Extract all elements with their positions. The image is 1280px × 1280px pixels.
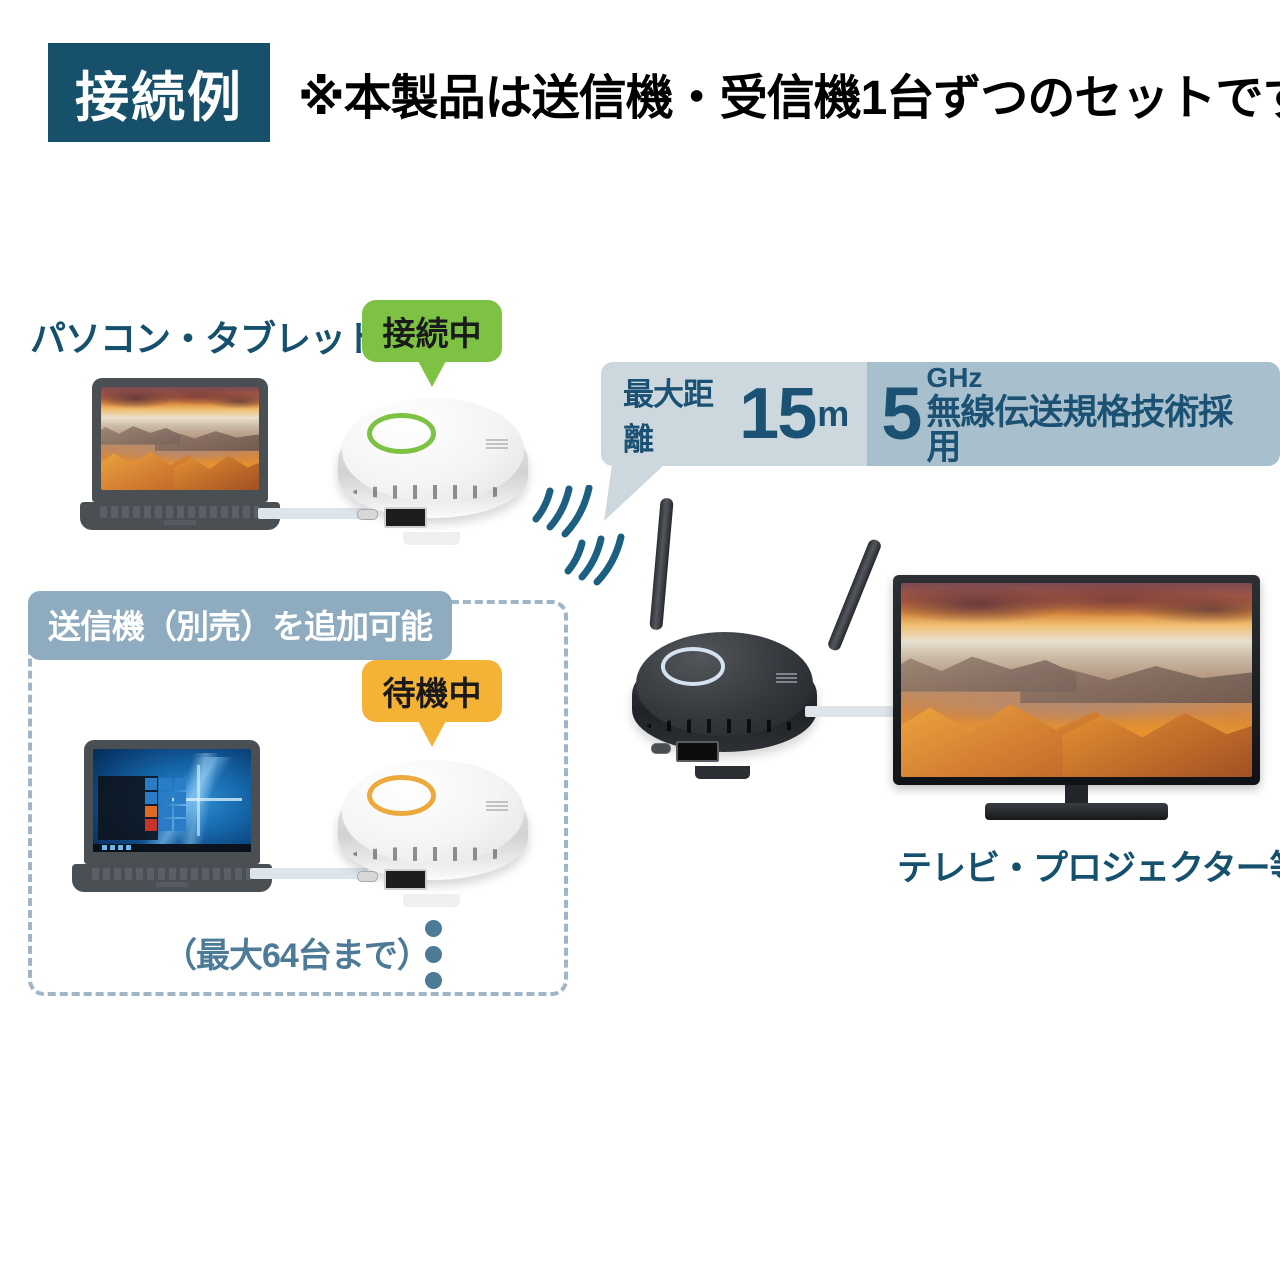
spec-distance-unit: m [817, 393, 849, 435]
taskbar-icon [110, 845, 115, 850]
canyon-ridge-2 [1020, 657, 1252, 704]
puck-foot [403, 532, 460, 545]
spec-distance-value: 15 [739, 362, 815, 466]
start-tile [145, 806, 157, 818]
windows-flag-vertical [197, 765, 200, 835]
start-tile [145, 792, 157, 804]
start-tile [159, 778, 171, 790]
start-tile [159, 792, 171, 804]
led-ring-green [367, 413, 435, 454]
hdmi-port [384, 507, 428, 528]
windows-desktop [93, 749, 251, 852]
led-ring-orange [367, 775, 435, 816]
spec-ghz-unit: GHz [926, 364, 1260, 392]
laptop-lid [92, 378, 268, 502]
laptop-secondary [72, 740, 272, 892]
led-ring-white [661, 647, 726, 686]
dot [425, 946, 442, 963]
start-tile [159, 806, 171, 818]
tv-screen-canyon [901, 583, 1252, 777]
laptop-primary [80, 378, 280, 530]
receiver-unit [632, 632, 817, 772]
taskbar-icon [126, 845, 131, 850]
start-tile [145, 778, 157, 790]
usb-c-port [357, 871, 378, 883]
canyon-ridge-2 [155, 426, 259, 451]
spec-ghz-stack: GHz 無線伝送規格技術採用 [926, 364, 1260, 465]
antenna-right [826, 538, 882, 652]
tv-stand [985, 803, 1169, 821]
callout-standby: 待機中 [362, 660, 502, 722]
brand-logo [486, 439, 508, 450]
start-menu-tiles [145, 778, 186, 832]
header: 接続例 ※本製品は送信機・受信機1台ずつのセットです。 [48, 43, 1280, 142]
laptop-keyboard [100, 506, 260, 518]
diagram-canvas: 接続例 ※本製品は送信機・受信機1台ずつのセットです。 パソコン・タブレット等 [0, 0, 1280, 1280]
laptop-screen-windows [93, 749, 251, 852]
dot [425, 972, 442, 989]
header-badge: 接続例 [48, 43, 270, 142]
laptop-trackpad [156, 882, 188, 886]
spec-ghz-description: 無線伝送規格技術採用 [926, 395, 1260, 465]
canyon-clouds [101, 387, 259, 412]
laptop-lid [84, 740, 260, 864]
laptop-keyboard [92, 868, 252, 880]
transmitter-unit-standby [338, 760, 528, 900]
callout-standby-label: 待機中 [383, 667, 482, 715]
brand-logo [776, 673, 797, 684]
laptop-base [80, 502, 280, 530]
taskbar-icon [118, 845, 123, 850]
callout-tail [417, 719, 447, 747]
dot [425, 920, 442, 937]
puck-vents [353, 485, 513, 499]
callout-connected: 接続中 [362, 300, 502, 362]
spec-ghz-panel: 5 GHz 無線伝送規格技術採用 [867, 362, 1280, 466]
hdmi-port [384, 869, 428, 890]
start-tile [159, 819, 171, 831]
continuation-dots-icon [425, 920, 442, 998]
laptop-screen-canyon [101, 387, 259, 490]
hdmi-port [676, 741, 719, 762]
taskbar-icon [102, 845, 107, 850]
header-note: ※本製品は送信機・受信機1台ずつのセットです。 [298, 58, 1280, 128]
puck-foot [403, 894, 460, 907]
callout-tail [417, 359, 447, 387]
laptop-trackpad [164, 520, 196, 524]
canyon-wallpaper [101, 387, 259, 490]
spec-banner: 最大距離 15 m 5 GHz 無線伝送規格技術採用 [601, 362, 1280, 466]
spec-distance-panel: 最大距離 15 m [601, 362, 867, 466]
puck-foot [695, 766, 751, 779]
puck-vents [647, 719, 802, 733]
callout-connected-label: 接続中 [383, 307, 482, 355]
television [893, 575, 1260, 825]
start-tile [174, 778, 186, 790]
transmitter-unit-connected [338, 398, 528, 538]
label-tv-projector: テレビ・プロジェクター等 [897, 840, 1280, 891]
spec-ghz-value: 5 [881, 377, 920, 451]
start-tile [174, 792, 186, 804]
windows-taskbar [93, 844, 251, 852]
start-tile [174, 806, 186, 818]
canyon-wallpaper [901, 583, 1252, 777]
canyon-clouds [901, 583, 1252, 630]
start-tile [145, 819, 157, 831]
laptop-base [72, 864, 272, 892]
label-max-units: （最大64台まで） [163, 928, 430, 977]
usb-c-port [651, 743, 672, 755]
start-tile [174, 819, 186, 831]
expansion-box-tab: 送信機（別売）を追加可能 [28, 591, 452, 660]
puck-vents [353, 847, 513, 861]
brand-logo [486, 801, 508, 812]
spec-distance-lead: 最大距離 [623, 369, 739, 459]
label-pc-tablet: パソコン・タブレット等 [30, 310, 415, 362]
tv-bezel [893, 575, 1260, 785]
spec-banner-tail [604, 465, 664, 521]
usb-c-port [357, 509, 378, 521]
